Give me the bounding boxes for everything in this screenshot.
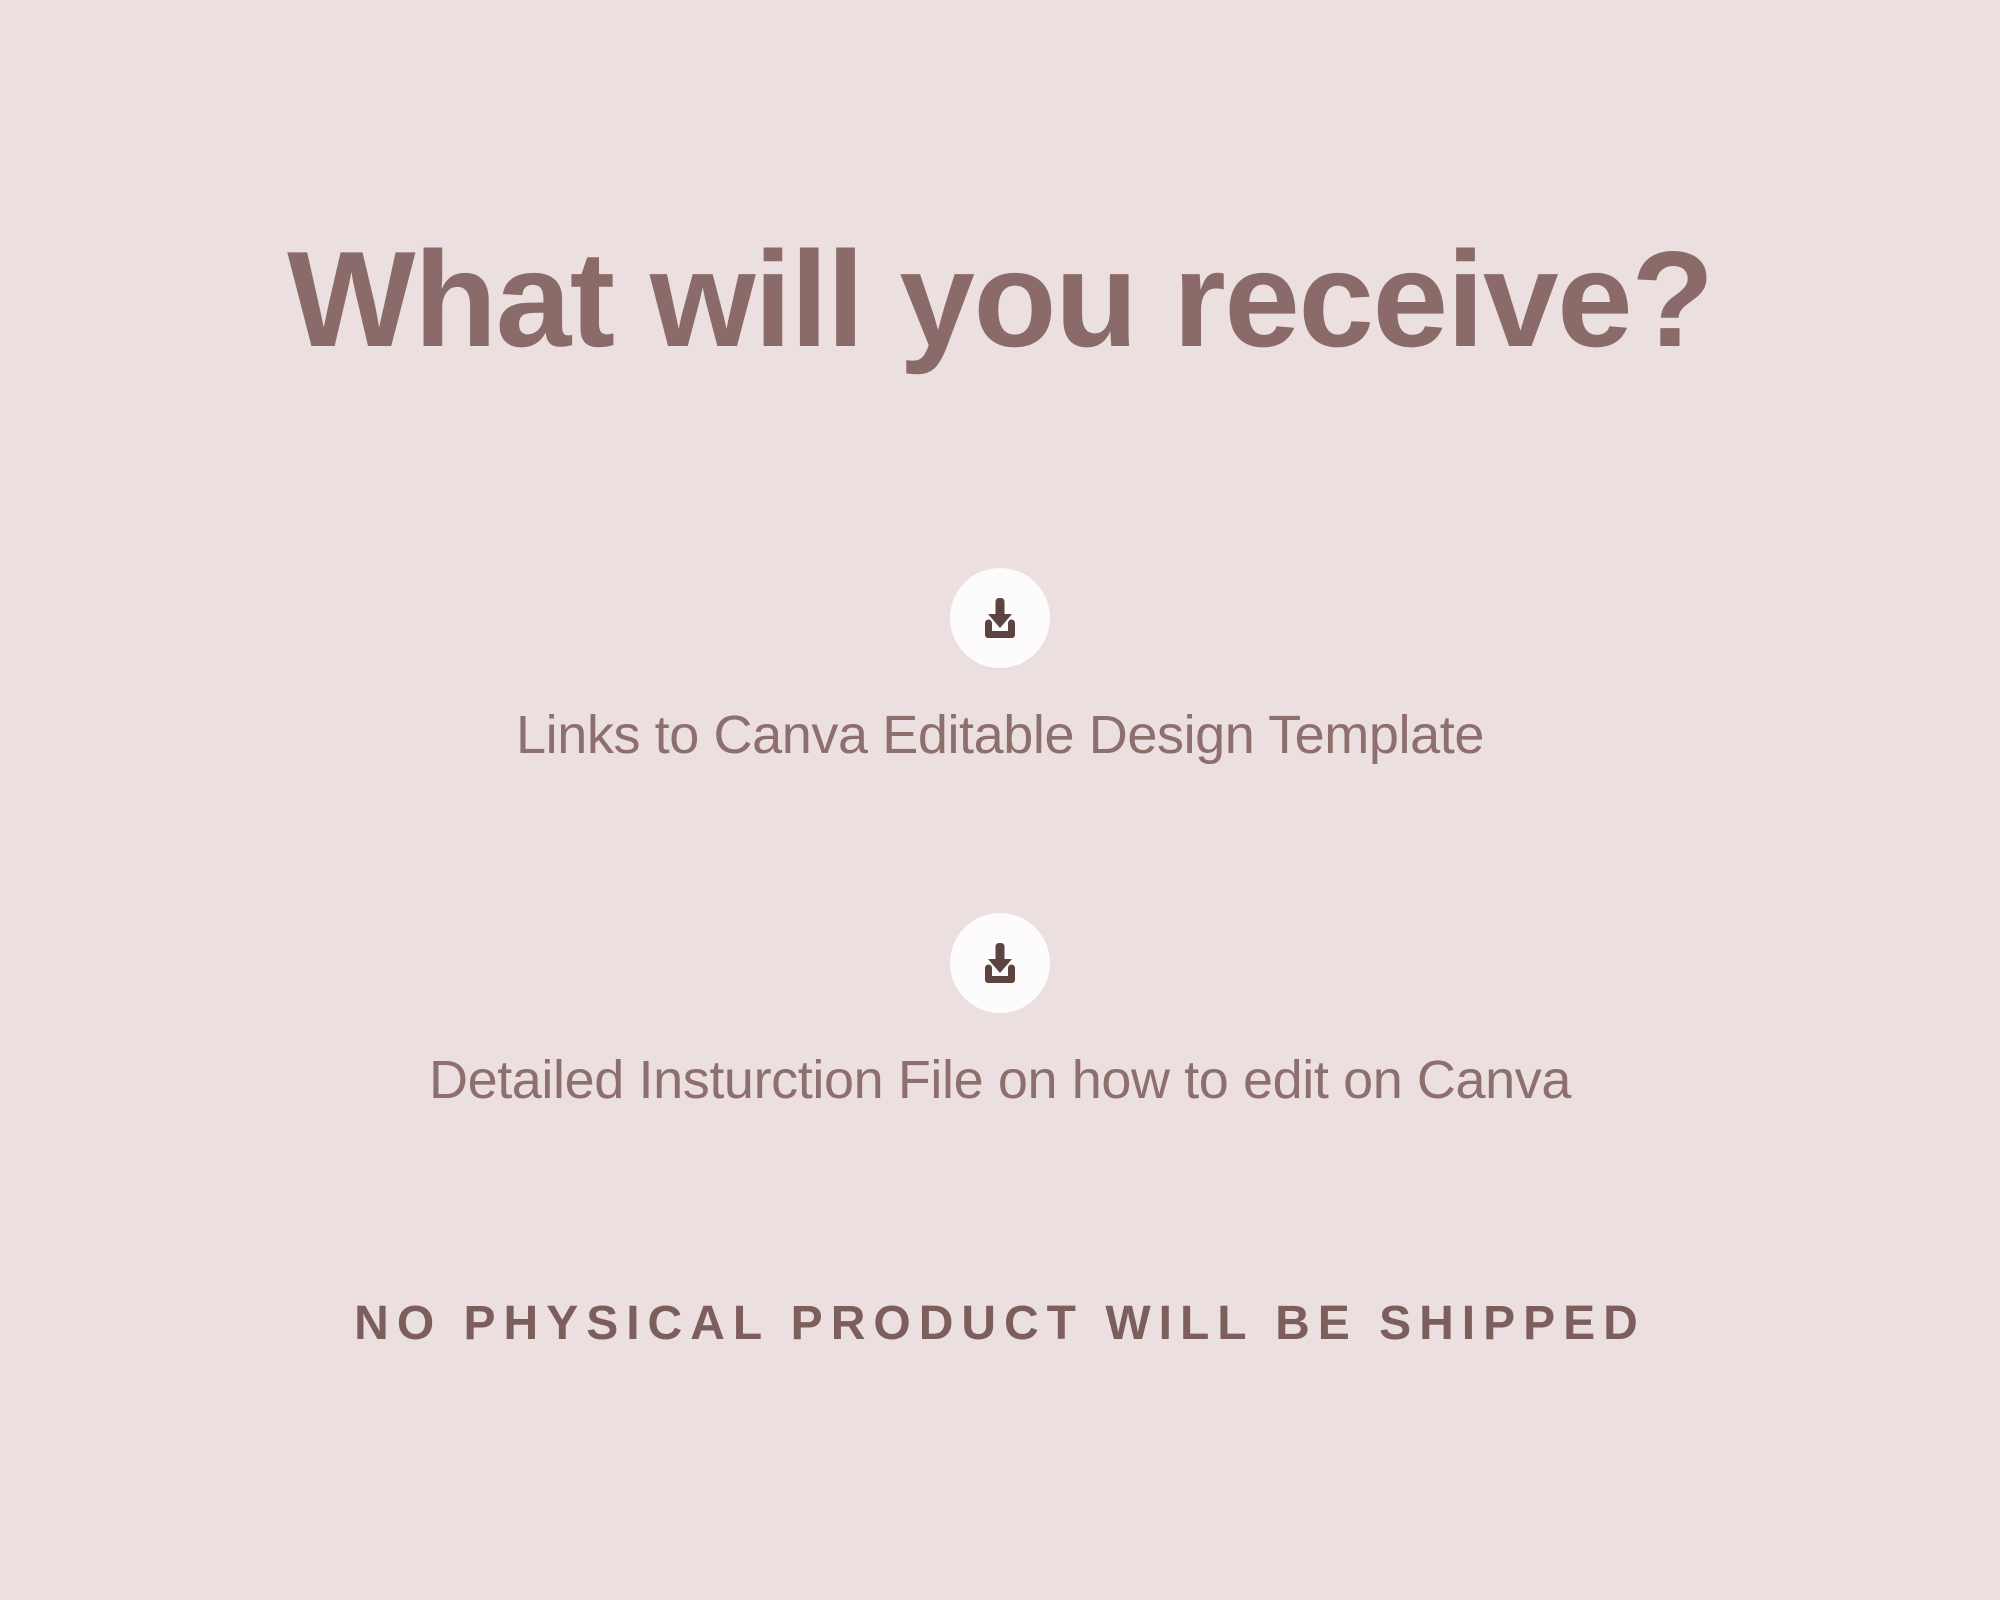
download-icon xyxy=(950,568,1050,668)
deliverable-item-1: Links to Canva Editable Design Template xyxy=(0,568,2000,766)
deliverable-label-2: Detailed Insturction File on how to edit… xyxy=(0,1049,2000,1111)
promo-slide: What will you receive? Links to Canva Ed… xyxy=(0,0,2000,1600)
no-physical-product-note: NO PHYSICAL PRODUCT WILL BE SHIPPED xyxy=(0,1296,2000,1351)
deliverable-item-2: Detailed Insturction File on how to edit… xyxy=(0,913,2000,1111)
download-icon xyxy=(950,913,1050,1013)
page-title: What will you receive? xyxy=(0,228,2000,371)
deliverable-label-1: Links to Canva Editable Design Template xyxy=(0,704,2000,766)
